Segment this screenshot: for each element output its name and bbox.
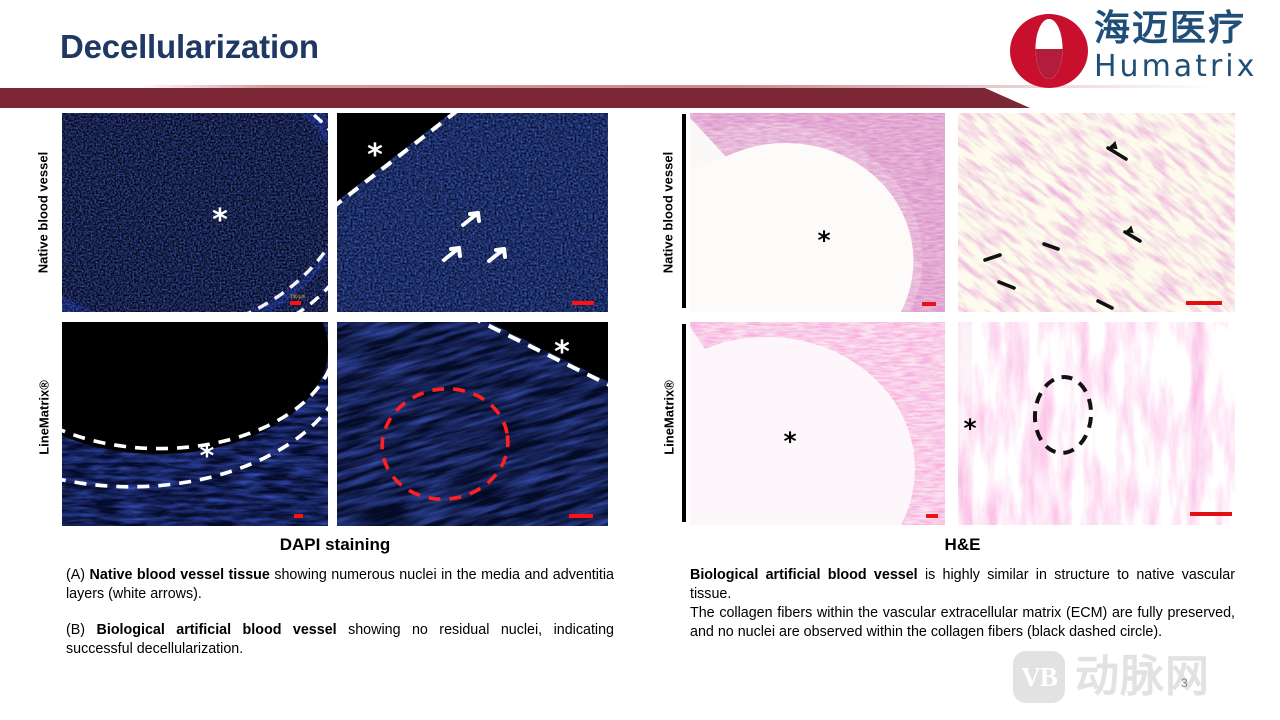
logo-chinese-name: 海迈医疗 bbox=[1094, 8, 1257, 50]
right-caption-bold: Biological artificial blood vessel bbox=[690, 567, 918, 583]
company-logo: 海迈医疗 Humatrix bbox=[1010, 6, 1272, 94]
dapi-native-highmag-image[interactable]: * bbox=[337, 113, 608, 312]
header-band-bar bbox=[0, 88, 1030, 108]
svg-text:*: * bbox=[817, 226, 830, 255]
svg-text:*: * bbox=[783, 427, 796, 456]
left-caption-a-prefix: (A) bbox=[66, 567, 90, 583]
logo-wordmark: 海迈医疗 Humatrix bbox=[1094, 8, 1257, 84]
right-figure-caption-title: H&E bbox=[690, 535, 1235, 555]
he-linematrix-highmag-image[interactable]: * bbox=[958, 322, 1235, 525]
he-native-highmag-image[interactable] bbox=[958, 113, 1235, 312]
left-figure-caption-title: DAPI staining bbox=[62, 535, 608, 555]
right-row-label-linematrix: LineMatrix® bbox=[662, 348, 677, 488]
page-number: 3 bbox=[1181, 676, 1188, 690]
svg-text:*: * bbox=[212, 203, 228, 238]
left-caption-a-bold: Native blood vessel tissue bbox=[90, 567, 270, 583]
dapi-native-lowmag-image[interactable]: * 100 μm bbox=[62, 113, 328, 312]
watermark-text: 动脉网 bbox=[1075, 652, 1210, 702]
logo-mark-icon bbox=[1010, 14, 1088, 88]
right-caption-line1: Biological artificial blood vessel is hi… bbox=[690, 566, 1235, 604]
right-row-label-native: Native blood vessel bbox=[661, 143, 676, 283]
logo-english-name: Humatrix bbox=[1094, 50, 1257, 84]
left-caption-b-prefix: (B) bbox=[66, 622, 97, 638]
he-linematrix-lowmag-image[interactable]: * bbox=[690, 322, 945, 525]
left-row-label-linematrix: LineMatrix® bbox=[37, 348, 52, 488]
left-caption-b: (B) Biological artificial blood vessel s… bbox=[66, 621, 614, 659]
dapi-linematrix-lowmag-image[interactable]: * bbox=[62, 322, 328, 526]
he-native-lowmag-image[interactable]: * bbox=[690, 113, 945, 312]
svg-text:*: * bbox=[367, 138, 383, 173]
svg-text:*: * bbox=[963, 414, 976, 443]
watermark: VB 动脉网 bbox=[1013, 648, 1268, 708]
page-title: Decellularization bbox=[60, 28, 319, 66]
right-row1-divider bbox=[682, 114, 686, 308]
right-figure-caption-body: Biological artificial blood vessel is hi… bbox=[690, 566, 1235, 642]
left-caption-a: (A) Native blood vessel tissue showing n… bbox=[66, 566, 614, 604]
svg-text:*: * bbox=[200, 439, 215, 472]
watermark-badge-icon: VB bbox=[1013, 651, 1065, 703]
right-row2-divider bbox=[682, 324, 686, 522]
dapi-linematrix-highmag-image[interactable]: * bbox=[337, 322, 608, 526]
right-caption-line2: The collagen fibers within the vascular … bbox=[690, 604, 1235, 642]
left-caption-b-bold: Biological artificial blood vessel bbox=[97, 622, 337, 638]
svg-text:100 μm: 100 μm bbox=[290, 294, 305, 299]
svg-text:*: * bbox=[554, 335, 570, 370]
left-row-label-native: Native blood vessel bbox=[36, 143, 51, 283]
slide-root: Decellularization 海迈医疗 Humatrix Native b… bbox=[0, 0, 1280, 720]
left-figure-caption-body: (A) Native blood vessel tissue showing n… bbox=[66, 566, 614, 659]
